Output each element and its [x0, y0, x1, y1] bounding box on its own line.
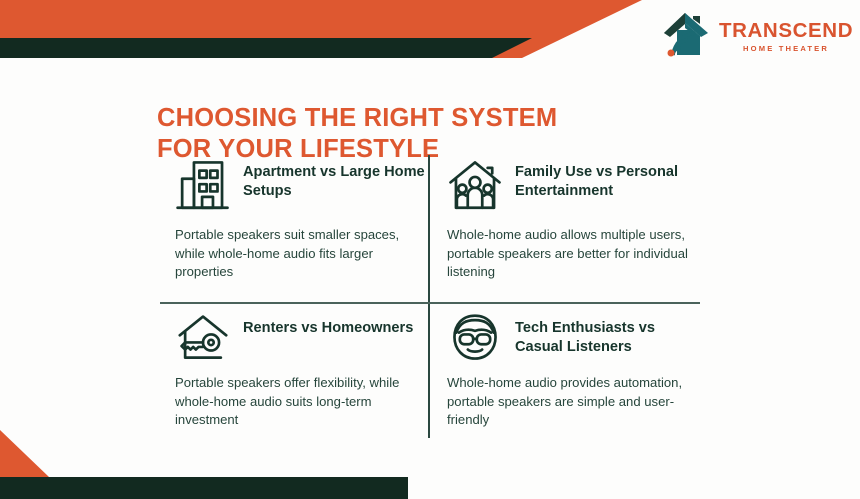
signal-dot-icon	[668, 50, 675, 57]
bottom-green-band	[0, 477, 408, 499]
quadrant-header: Apartment vs Large Home Setups	[174, 157, 432, 215]
logo-name: TRANSCEND	[719, 21, 853, 42]
brand-logo: TRANSCEND HOME THEATER	[662, 9, 822, 61]
quadrant-tech-vs-casual: Tech Enthusiasts vs Casual Listeners Who…	[446, 313, 704, 430]
person-glasses-icon	[446, 313, 504, 363]
grid-horizontal-divider	[160, 302, 700, 304]
comparison-grid: Apartment vs Large Home Setups Portable …	[160, 155, 700, 438]
slide-canvas: TRANSCEND HOME THEATER CHOOSING THE RIGH…	[0, 0, 860, 499]
quadrant-body: Whole-home audio allows multiple users, …	[447, 226, 704, 282]
bottom-orange-triangle	[0, 430, 49, 477]
quadrant-renters-vs-homeowners: Renters vs Homeowners Portable speakers …	[174, 313, 432, 430]
logo-wordmark: TRANSCEND HOME THEATER	[719, 17, 853, 52]
quadrant-header: Tech Enthusiasts vs Casual Listeners	[446, 313, 704, 363]
logo-tagline: HOME THEATER	[719, 45, 853, 53]
quadrant-body: Portable speakers offer flexibility, whi…	[175, 374, 432, 430]
top-green-band	[0, 38, 532, 58]
quadrant-title: Renters vs Homeowners	[243, 313, 413, 338]
house-key-icon	[174, 313, 232, 363]
house-wifi-icon	[662, 11, 712, 59]
quadrant-header: Renters vs Homeowners	[174, 313, 432, 363]
quadrant-header: Family Use vs Personal Entertainment	[446, 157, 704, 215]
page-title-line-1: CHOOSING THE RIGHT SYSTEM	[157, 104, 557, 132]
apartment-building-icon	[174, 157, 232, 215]
quadrant-title: Tech Enthusiasts vs Casual Listeners	[515, 313, 704, 358]
quadrant-body: Portable speakers suit smaller spaces, w…	[175, 226, 432, 282]
top-orange-band	[0, 0, 642, 58]
quadrant-apartment-vs-large-home: Apartment vs Large Home Setups Portable …	[174, 157, 432, 282]
quadrant-body: Whole-home audio provides automation, po…	[447, 374, 704, 430]
family-house-icon	[446, 157, 504, 215]
quadrant-family-vs-personal: Family Use vs Personal Entertainment Who…	[446, 157, 704, 282]
quadrant-title: Family Use vs Personal Entertainment	[515, 157, 704, 202]
quadrant-title: Apartment vs Large Home Setups	[243, 157, 432, 202]
